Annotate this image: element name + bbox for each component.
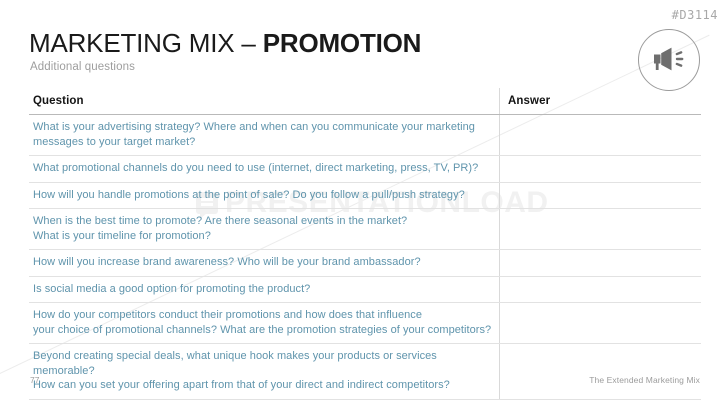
table-row[interactable]: How will you handle promotions at the po… (29, 183, 701, 210)
table-cell-question: Beyond creating special deals, what uniq… (29, 344, 500, 399)
answer-text (508, 120, 695, 121)
table-cell-question: How do your competitors conduct their pr… (29, 303, 500, 343)
column-header-question: Question (33, 95, 84, 107)
question-text: Beyond creating special deals, what uniq… (33, 349, 493, 393)
question-text: How do your competitors conduct their pr… (33, 308, 493, 337)
table-cell-answer[interactable] (500, 115, 701, 136)
question-text: What promotional channels do you need to… (33, 161, 493, 176)
page-title: MARKETING MIX – PROMOTION (29, 28, 421, 58)
table-cell-question: What is your advertising strategy? Where… (29, 115, 500, 155)
table-row[interactable]: Beyond creating special deals, what uniq… (29, 344, 701, 400)
question-text: When is the best time to promote? Are th… (33, 214, 493, 243)
table-cell-answer[interactable] (500, 156, 701, 177)
question-text: What is your advertising strategy? Where… (33, 120, 493, 149)
table-cell-answer[interactable] (500, 277, 701, 298)
table-row[interactable]: What is your advertising strategy? Where… (29, 115, 701, 156)
table-cell-question: What promotional channels do you need to… (29, 156, 500, 182)
footer-page-number: 77 (30, 375, 39, 385)
column-header-answer: Answer (508, 95, 550, 107)
table-cell-answer[interactable] (500, 303, 701, 324)
table-cell-question: How will you handle promotions at the po… (29, 183, 500, 209)
table-row[interactable]: How do your competitors conduct their pr… (29, 303, 701, 344)
answer-text (508, 188, 695, 189)
table-cell-answer[interactable] (500, 250, 701, 271)
table-cell-answer[interactable] (500, 344, 701, 365)
answer-text (508, 349, 695, 350)
page-title-light: MARKETING MIX – (29, 28, 263, 58)
page-title-bold: PROMOTION (263, 28, 422, 58)
question-text: Is social media a good option for promot… (33, 282, 493, 297)
question-text: How will you handle promotions at the po… (33, 188, 493, 203)
question-text: How will you increase brand awareness? W… (33, 255, 493, 270)
answer-text (508, 214, 695, 215)
questions-table: Question Answer What is your advertising… (29, 88, 701, 400)
answer-text (508, 255, 695, 256)
table-cell-question: How will you increase brand awareness? W… (29, 250, 500, 276)
table-row[interactable]: What promotional channels do you need to… (29, 156, 701, 183)
megaphone-icon (652, 46, 686, 74)
table-row[interactable]: Is social media a good option for promot… (29, 277, 701, 304)
table-row[interactable]: When is the best time to promote? Are th… (29, 209, 701, 250)
answer-text (508, 308, 695, 309)
table-header-cell-answer: Answer (500, 88, 701, 114)
slide-reference-code: #D3114 (672, 8, 718, 22)
footer-section-label: The Extended Marketing Mix (589, 375, 700, 385)
slide-canvas: PRESENTATIONLOAD #D3114 MARKETING MIX – … (0, 0, 727, 409)
table-cell-question: Is social media a good option for promot… (29, 277, 500, 303)
table-cell-question: When is the best time to promote? Are th… (29, 209, 500, 249)
answer-text (508, 282, 695, 283)
table-header-cell-question: Question (29, 88, 500, 114)
page-subtitle: Additional questions (30, 61, 135, 73)
megaphone-icon-badge (638, 29, 700, 91)
table-cell-answer[interactable] (500, 209, 701, 230)
table-header-row: Question Answer (29, 88, 701, 115)
table-row[interactable]: How will you increase brand awareness? W… (29, 250, 701, 277)
answer-text (508, 161, 695, 162)
table-cell-answer[interactable] (500, 183, 701, 204)
